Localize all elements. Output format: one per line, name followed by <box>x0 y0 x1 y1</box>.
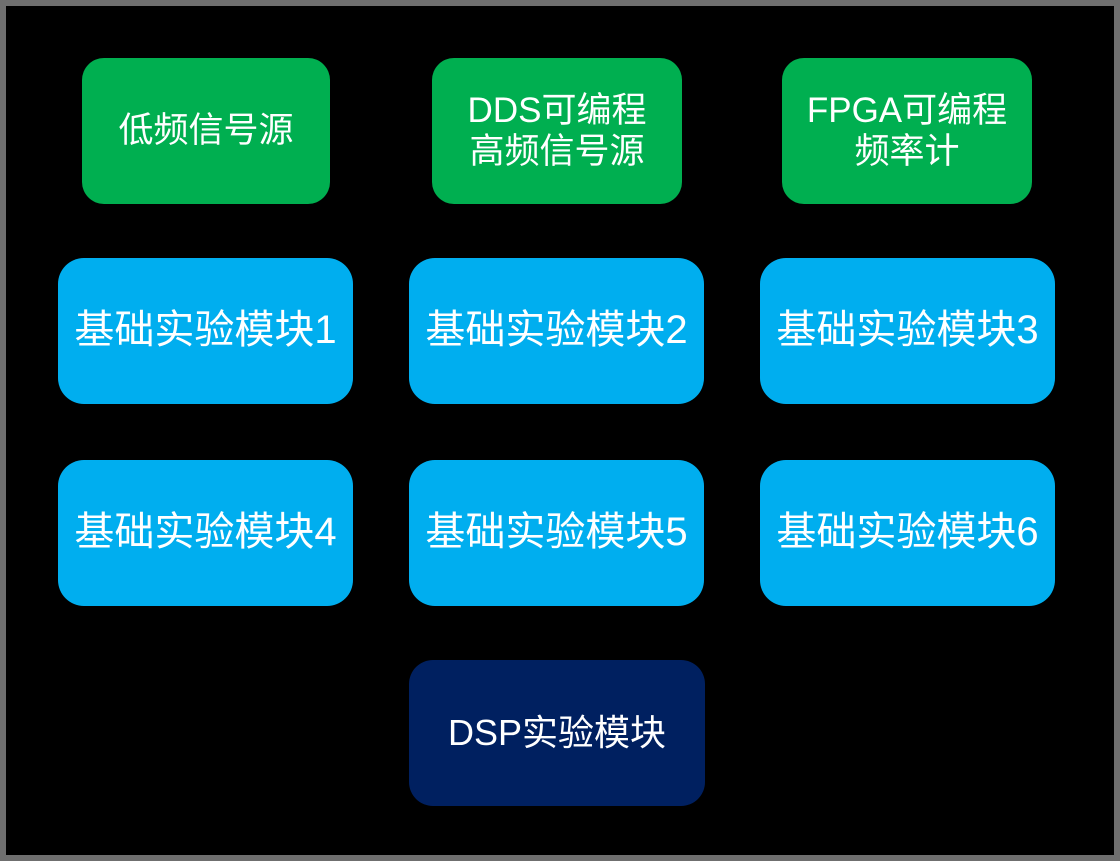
node-dds-programmable-high-frequency-signal-source[interactable]: DDS可编程 高频信号源 <box>432 58 682 204</box>
node-basic-experiment-module-4[interactable]: 基础实验模块4 <box>58 460 353 606</box>
node-low-frequency-signal-source[interactable]: 低频信号源 <box>82 58 330 204</box>
node-basic-experiment-module-5[interactable]: 基础实验模块5 <box>409 460 704 606</box>
node-fpga-programmable-frequency-counter[interactable]: FPGA可编程 频率计 <box>782 58 1032 204</box>
diagram-canvas: 低频信号源 DDS可编程 高频信号源 FPGA可编程 频率计 基础实验模块1 基… <box>6 6 1114 855</box>
node-basic-experiment-module-6[interactable]: 基础实验模块6 <box>760 460 1055 606</box>
node-dsp-experiment-module[interactable]: DSP实验模块 <box>409 660 705 806</box>
node-basic-experiment-module-1[interactable]: 基础实验模块1 <box>58 258 353 404</box>
node-basic-experiment-module-2[interactable]: 基础实验模块2 <box>409 258 704 404</box>
node-basic-experiment-module-3[interactable]: 基础实验模块3 <box>760 258 1055 404</box>
